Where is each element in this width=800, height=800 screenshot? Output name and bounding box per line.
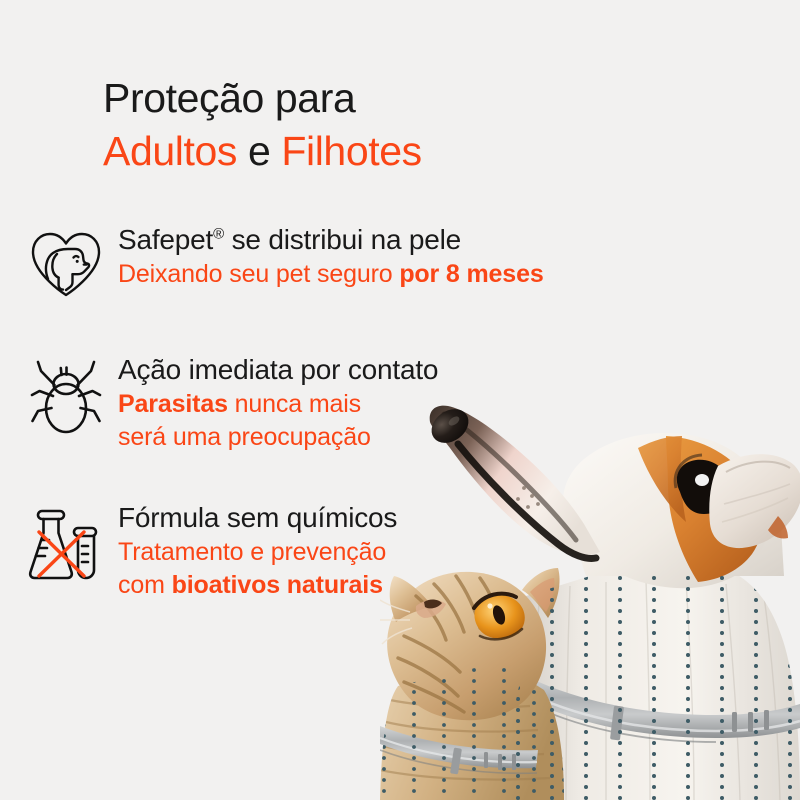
feature-2-sub-1: Parasitas nunca mais bbox=[118, 388, 438, 421]
feature-3-sub-2: com bioativos naturais bbox=[118, 569, 397, 602]
feature-2-text: Ação imediata por contato Parasitas nunc… bbox=[108, 352, 438, 454]
feature-1-heading: Safepet® se distribui na pele bbox=[118, 222, 544, 258]
feature-row-1: Safepet® se distribui na pele Deixando s… bbox=[24, 222, 544, 304]
dot-stripe-overlay bbox=[382, 576, 792, 800]
title-conjunction: e bbox=[237, 128, 281, 174]
feature-3-text: Fórmula sem químicos Tratamento e preven… bbox=[108, 500, 397, 602]
dog-collar bbox=[515, 676, 800, 742]
feature-3-heading: Fórmula sem químicos bbox=[118, 500, 397, 536]
dog-eye bbox=[675, 455, 730, 514]
feature-3-sub-2-bold: bioativos naturais bbox=[172, 571, 383, 599]
tick-parasite-icon bbox=[24, 352, 108, 440]
feature-3-sub-1: Tratamento e prevenção bbox=[118, 536, 397, 569]
title-word-filhotes: Filhotes bbox=[281, 128, 421, 174]
feature-1-text: Safepet® se distribui na pele Deixando s… bbox=[108, 222, 544, 291]
promo-banner: Proteção para Adultos e Filhotes Safepet… bbox=[0, 0, 800, 800]
dog-head bbox=[425, 402, 800, 588]
dog-and-cat-photo bbox=[380, 400, 800, 800]
feature-3-sub-2-normal: com bbox=[118, 571, 172, 599]
page-title: Proteção para Adultos e Filhotes bbox=[103, 72, 422, 178]
feature-1-heading-brand: Safepet bbox=[118, 224, 213, 255]
feature-1-sub-1: Deixando seu pet seguro por 8 meses bbox=[118, 258, 544, 291]
feature-2-sub-2: será uma preocupação bbox=[118, 421, 438, 454]
feature-1-sub-1-normal: Deixando seu pet seguro bbox=[118, 260, 399, 288]
feature-row-2: Ação imediata por contato Parasitas nunc… bbox=[24, 352, 438, 454]
no-chemicals-flask-icon bbox=[24, 500, 108, 586]
dog-ear bbox=[709, 454, 800, 548]
cat-eye bbox=[474, 594, 525, 640]
cat-figure bbox=[380, 568, 564, 800]
feature-2-heading: Ação imediata por contato bbox=[118, 352, 438, 388]
feature-2-sub-1-bold: Parasitas bbox=[118, 390, 228, 418]
title-line-2: Adultos e Filhotes bbox=[103, 125, 422, 178]
title-word-adultos: Adultos bbox=[103, 128, 237, 174]
registered-mark: ® bbox=[213, 226, 224, 243]
feature-2-sub-1-normal: nunca mais bbox=[228, 390, 361, 418]
feature-1-sub-1-bold: por 8 meses bbox=[399, 260, 543, 288]
cat-head bbox=[380, 568, 560, 720]
feature-1-heading-rest: se distribui na pele bbox=[224, 224, 461, 255]
dog-figure bbox=[380, 400, 800, 800]
title-line-1: Proteção para bbox=[103, 72, 422, 125]
heart-dog-icon bbox=[24, 222, 108, 304]
feature-row-3: Fórmula sem químicos Tratamento e preven… bbox=[24, 500, 397, 602]
cat-collar bbox=[380, 726, 538, 774]
